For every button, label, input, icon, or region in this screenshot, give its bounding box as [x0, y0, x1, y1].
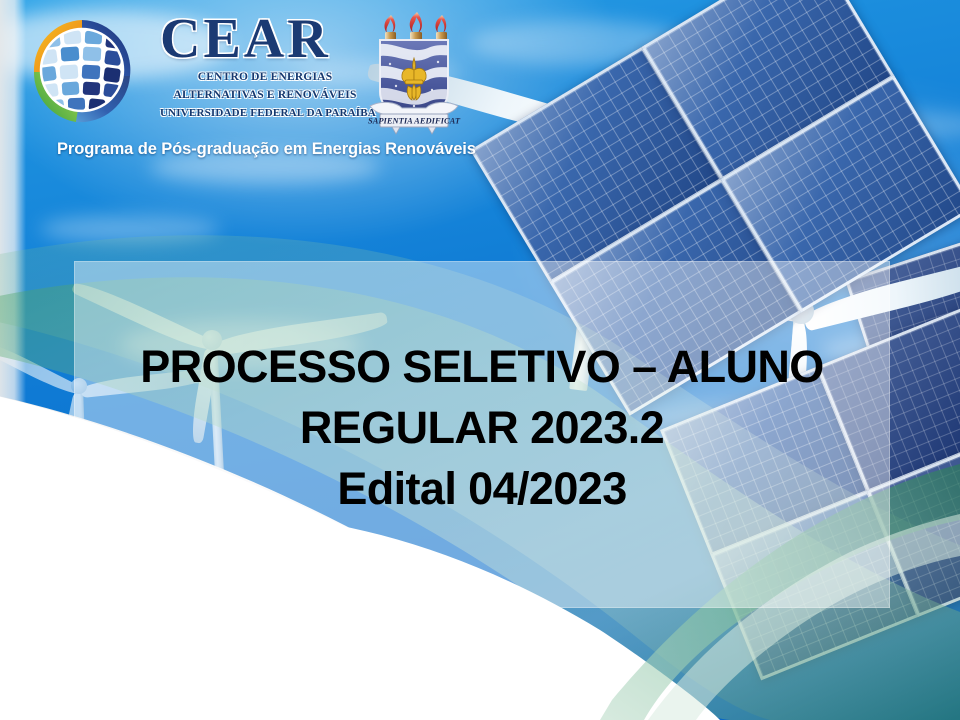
page-title: PROCESSO SELETIVO – ALUNO REGULAR 2023.2… — [74, 336, 890, 519]
program-subtitle: Programa de Pós-graduação em Energias Re… — [57, 140, 476, 159]
cear-subline-1: CENTRO DE ENERGIAS — [160, 71, 370, 83]
title-line-2: REGULAR 2023.2 — [74, 397, 890, 458]
cear-wordmark: CEAR — [160, 10, 360, 68]
crest-motto: SAPIENTIA AEDIFICAT — [368, 116, 461, 126]
cear-subline-3: UNIVERSIDADE FEDERAL DA PARAÍBA — [160, 107, 370, 119]
cear-subline-2: ALTERNATIVAS E RENOVÁVEIS — [160, 89, 370, 101]
cear-logo: CEAR CENTRO DE ENERGIAS ALTERNATIVAS E R… — [10, 4, 470, 142]
ufpb-crest-icon: SAPIENTIA AEDIFICAT — [362, 10, 466, 140]
title-line-1: PROCESSO SELETIVO – ALUNO — [74, 336, 890, 397]
slide-canvas: CEAR CENTRO DE ENERGIAS ALTERNATIVAS E R… — [0, 0, 960, 720]
title-line-3: Edital 04/2023 — [74, 458, 890, 519]
globe-icon — [18, 10, 144, 136]
